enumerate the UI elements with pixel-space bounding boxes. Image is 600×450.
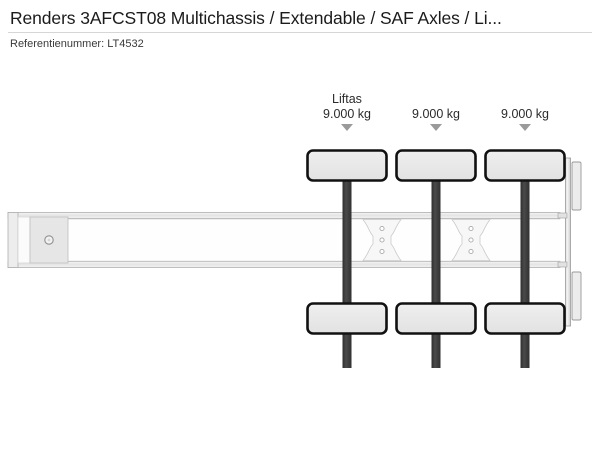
wheel-upper bbox=[397, 151, 476, 181]
axle-beam bbox=[521, 156, 530, 368]
joint-pin-hole bbox=[469, 238, 473, 242]
axle-pointer-icon bbox=[341, 124, 353, 131]
rear-upper-plate bbox=[572, 162, 581, 210]
rear-post bbox=[566, 158, 571, 326]
joint-pin-hole bbox=[380, 226, 384, 230]
wheel-lower bbox=[397, 304, 476, 334]
joint-pin-hole bbox=[380, 249, 384, 253]
chassis-bottom-rail bbox=[8, 262, 560, 268]
rear-lower-plate bbox=[572, 272, 581, 320]
front-end-plate bbox=[8, 213, 18, 268]
reference-number: Referentienummer: LT4532 bbox=[10, 37, 144, 51]
chassis-top-rail bbox=[8, 213, 560, 219]
front-rib bbox=[18, 217, 30, 263]
trailer-diagram: Liftas 9.000 kg 9.000 kg 9.000 kg bbox=[0, 56, 600, 450]
joint-pin-hole bbox=[469, 249, 473, 253]
axle-beam bbox=[432, 156, 441, 368]
trailer-spec-image: Renders 3AFCST08 Multichassis / Extendab… bbox=[0, 0, 600, 450]
wheel-upper bbox=[308, 151, 387, 181]
header-divider bbox=[8, 32, 592, 33]
rear-underrun-bar bbox=[558, 158, 581, 326]
axle-weight: 9.000 kg bbox=[465, 107, 585, 122]
wheel-lower bbox=[308, 304, 387, 334]
axle-pointer-icon bbox=[430, 124, 442, 131]
joint-pin-hole bbox=[469, 226, 473, 230]
kingpin-assembly bbox=[8, 213, 68, 268]
axle-beam bbox=[343, 156, 352, 368]
listing-header: Renders 3AFCST08 Multichassis / Extendab… bbox=[0, 0, 600, 56]
axle-pointer-icon bbox=[519, 124, 531, 131]
axle-annotation-3: 9.000 kg bbox=[465, 92, 585, 131]
wheel-lower bbox=[486, 304, 565, 334]
wheel-upper bbox=[486, 151, 565, 181]
page-title: Renders 3AFCST08 Multichassis / Extendab… bbox=[10, 8, 595, 29]
joint-pin-hole bbox=[380, 238, 384, 242]
